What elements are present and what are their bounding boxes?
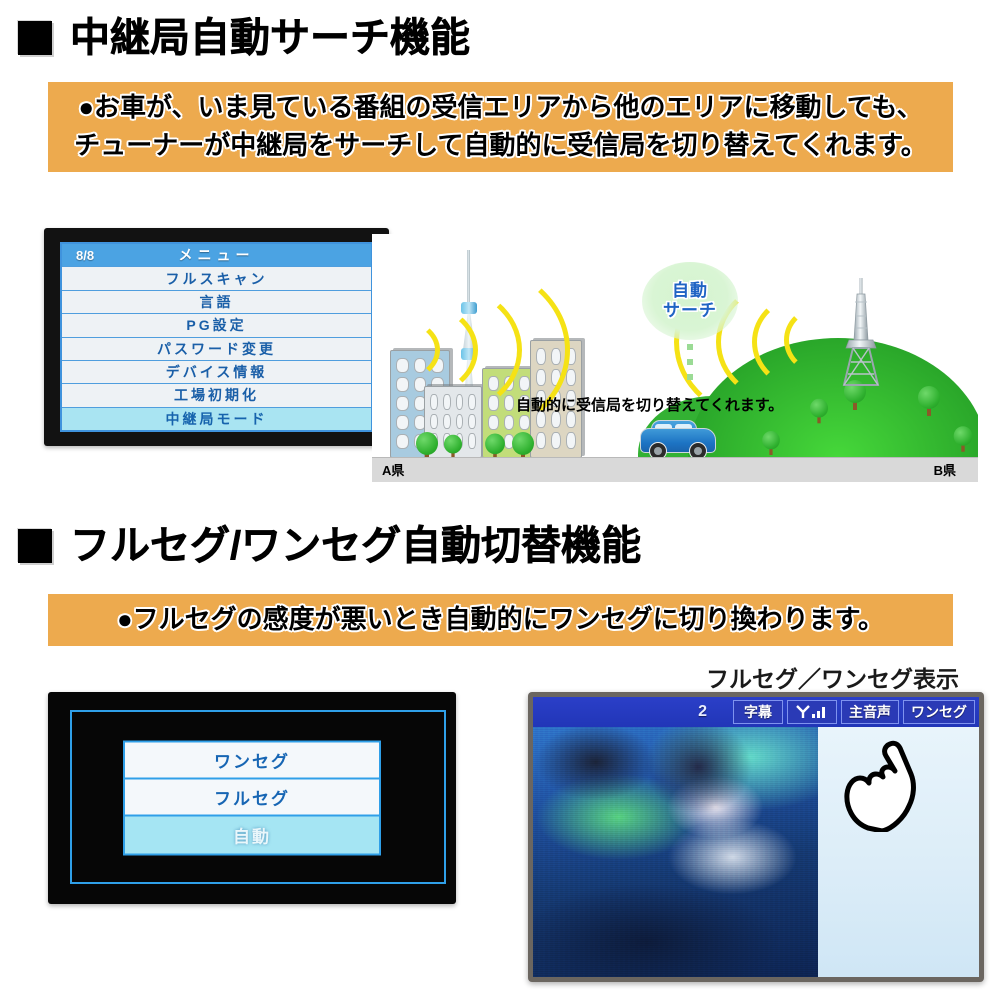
car-icon xyxy=(640,420,718,456)
menu-page-indicator: 8/8 xyxy=(76,248,94,263)
menu-item-language[interactable]: 言語 xyxy=(62,291,371,314)
tv-side-panel xyxy=(818,727,979,977)
signal-bars-icon xyxy=(795,704,829,720)
broadcast-photo xyxy=(533,727,818,977)
segment-option-label: ワンセグ xyxy=(214,748,290,773)
status-chip-label: ワンセグ xyxy=(911,702,967,722)
section1-banner-line-1: ●お車が、いま見ている番組の受信エリアから他のエリアに移動しても、 xyxy=(78,89,922,127)
menu-item-password-change[interactable]: パスワード変更 xyxy=(62,338,371,361)
menu-item-factory-reset[interactable]: 工場初期化 xyxy=(62,384,371,407)
menu-item-device-info[interactable]: デバイス情報 xyxy=(62,361,371,384)
menu-item-label: パスワード変更 xyxy=(157,339,276,359)
area-label-right: B県 xyxy=(934,460,956,479)
section1-heading: 中継局自動サーチ機能 xyxy=(18,18,470,58)
menu-item-label: デバイス情報 xyxy=(166,362,268,382)
status-chip-oneseg[interactable]: ワンセグ xyxy=(903,700,975,724)
menu-item-label: 中継局モード xyxy=(166,409,268,429)
menu-item-label: フルスキャン xyxy=(166,269,268,289)
area-label-left: A県 xyxy=(382,460,404,479)
search-dots xyxy=(687,344,693,380)
tv-display-caption: フルセグ／ワンセグ表示 xyxy=(706,660,959,694)
menu-item-label: PG設定 xyxy=(186,315,246,335)
relay-search-illustration: 自動 サーチ 自動的に受信局を切り替えてくれます。 A県 B県 xyxy=(372,234,978,482)
section2-banner: ●フルセグの感度が悪いとき自動的にワンセグに切り換わります。 xyxy=(48,594,953,646)
auto-search-line-1: 自動 xyxy=(672,282,708,300)
section2-banner-line-1: ●フルセグの感度が悪いとき自動的にワンセグに切り換わります。 xyxy=(117,601,884,639)
segment-option-oneseg[interactable]: ワンセグ xyxy=(125,743,379,780)
segment-option-label: フルセグ xyxy=(214,785,290,810)
menu-screen: 8/8 メニュー フルスキャン 言語 PG設定 パスワード変更 デバイス情報 工… xyxy=(60,242,373,432)
tree-icon xyxy=(918,386,940,416)
square-marker-icon xyxy=(18,529,52,563)
section1-heading-text: 中継局自動サーチ機能 xyxy=(70,18,470,58)
menu-item-pg-setting[interactable]: PG設定 xyxy=(62,314,371,337)
auto-search-badge: 自動 サーチ xyxy=(642,262,738,340)
menu-item-label: 言語 xyxy=(200,292,234,312)
pointing-hand-icon[interactable] xyxy=(838,740,916,832)
section1-banner: ●お車が、いま見ている番組の受信エリアから他のエリアに移動しても、 チューナーが… xyxy=(48,82,953,172)
segment-monitor-device: ワンセグ フルセグ 自動 xyxy=(48,692,456,904)
menu-title: メニュー xyxy=(179,245,255,265)
channel-number: 2 xyxy=(698,703,707,721)
menu-item-relay-station-mode[interactable]: 中継局モード xyxy=(62,408,371,430)
menu-item-full-scan[interactable]: フルスキャン xyxy=(62,267,371,290)
auto-search-line-2: サーチ xyxy=(663,302,717,320)
tv-screen: 2 字幕 主音声 ワンセグ xyxy=(533,697,979,977)
tree-icon xyxy=(762,431,780,455)
segment-select-list: ワンセグ フルセグ 自動 xyxy=(123,741,381,856)
illustration-caption: 自動的に受信局を切り替えてくれます。 xyxy=(516,394,783,415)
photo-scanline-overlay xyxy=(533,727,818,977)
segment-option-fullseg[interactable]: フルセグ xyxy=(125,780,379,817)
segment-option-label: 自動 xyxy=(233,823,271,848)
segment-option-auto[interactable]: 自動 xyxy=(125,817,379,854)
status-chip-subtitle[interactable]: 字幕 xyxy=(733,700,783,724)
section1-banner-line-2: チューナーが中継局をサーチして自動的に受信局を切り替えてくれます。 xyxy=(74,127,927,165)
status-chip-label: 字幕 xyxy=(744,702,772,722)
tv-display-device: 2 字幕 主音声 ワンセグ xyxy=(528,692,984,982)
menu-item-label: 工場初期化 xyxy=(174,385,259,405)
tv-status-bar: 2 字幕 主音声 ワンセグ xyxy=(533,697,979,727)
square-marker-icon xyxy=(18,21,52,55)
status-chip-label: 主音声 xyxy=(849,702,891,722)
status-chip-signal[interactable] xyxy=(787,700,837,724)
status-chip-main-audio[interactable]: 主音声 xyxy=(841,700,899,724)
section2-heading: フルセグ/ワンセグ自動切替機能 xyxy=(18,526,641,566)
menu-header-row: 8/8 メニュー xyxy=(62,244,371,267)
menu-monitor-device: 8/8 メニュー フルスキャン 言語 PG設定 パスワード変更 デバイス情報 工… xyxy=(44,228,389,446)
section2-heading-text: フルセグ/ワンセグ自動切替機能 xyxy=(70,526,641,566)
road-strip: A県 B県 xyxy=(372,457,978,482)
tree-icon xyxy=(954,426,973,452)
radio-wave-icon xyxy=(784,306,854,374)
